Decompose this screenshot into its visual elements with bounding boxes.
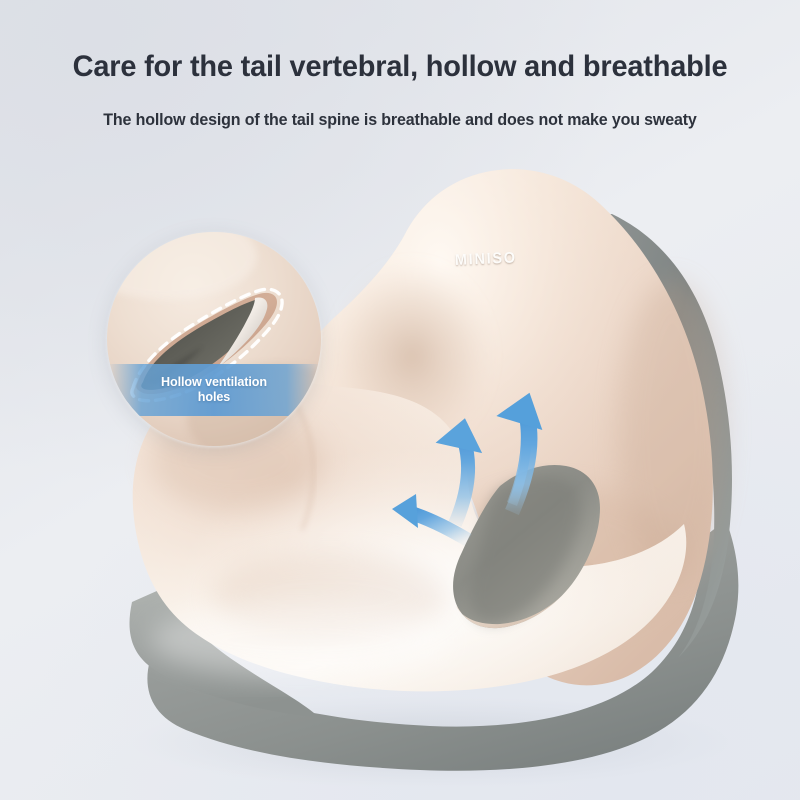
seat-front-sheen (150, 602, 450, 678)
inset-caption-line-2: holes (198, 390, 230, 405)
detail-inset-circle: Hollow ventilation holes (107, 232, 321, 446)
product-marketing-image: Care for the tail vertebral, hollow and … (0, 0, 800, 800)
inset-caption-line-1: Hollow ventilation (161, 375, 267, 390)
inset-caption-banner: Hollow ventilation holes (107, 364, 321, 416)
